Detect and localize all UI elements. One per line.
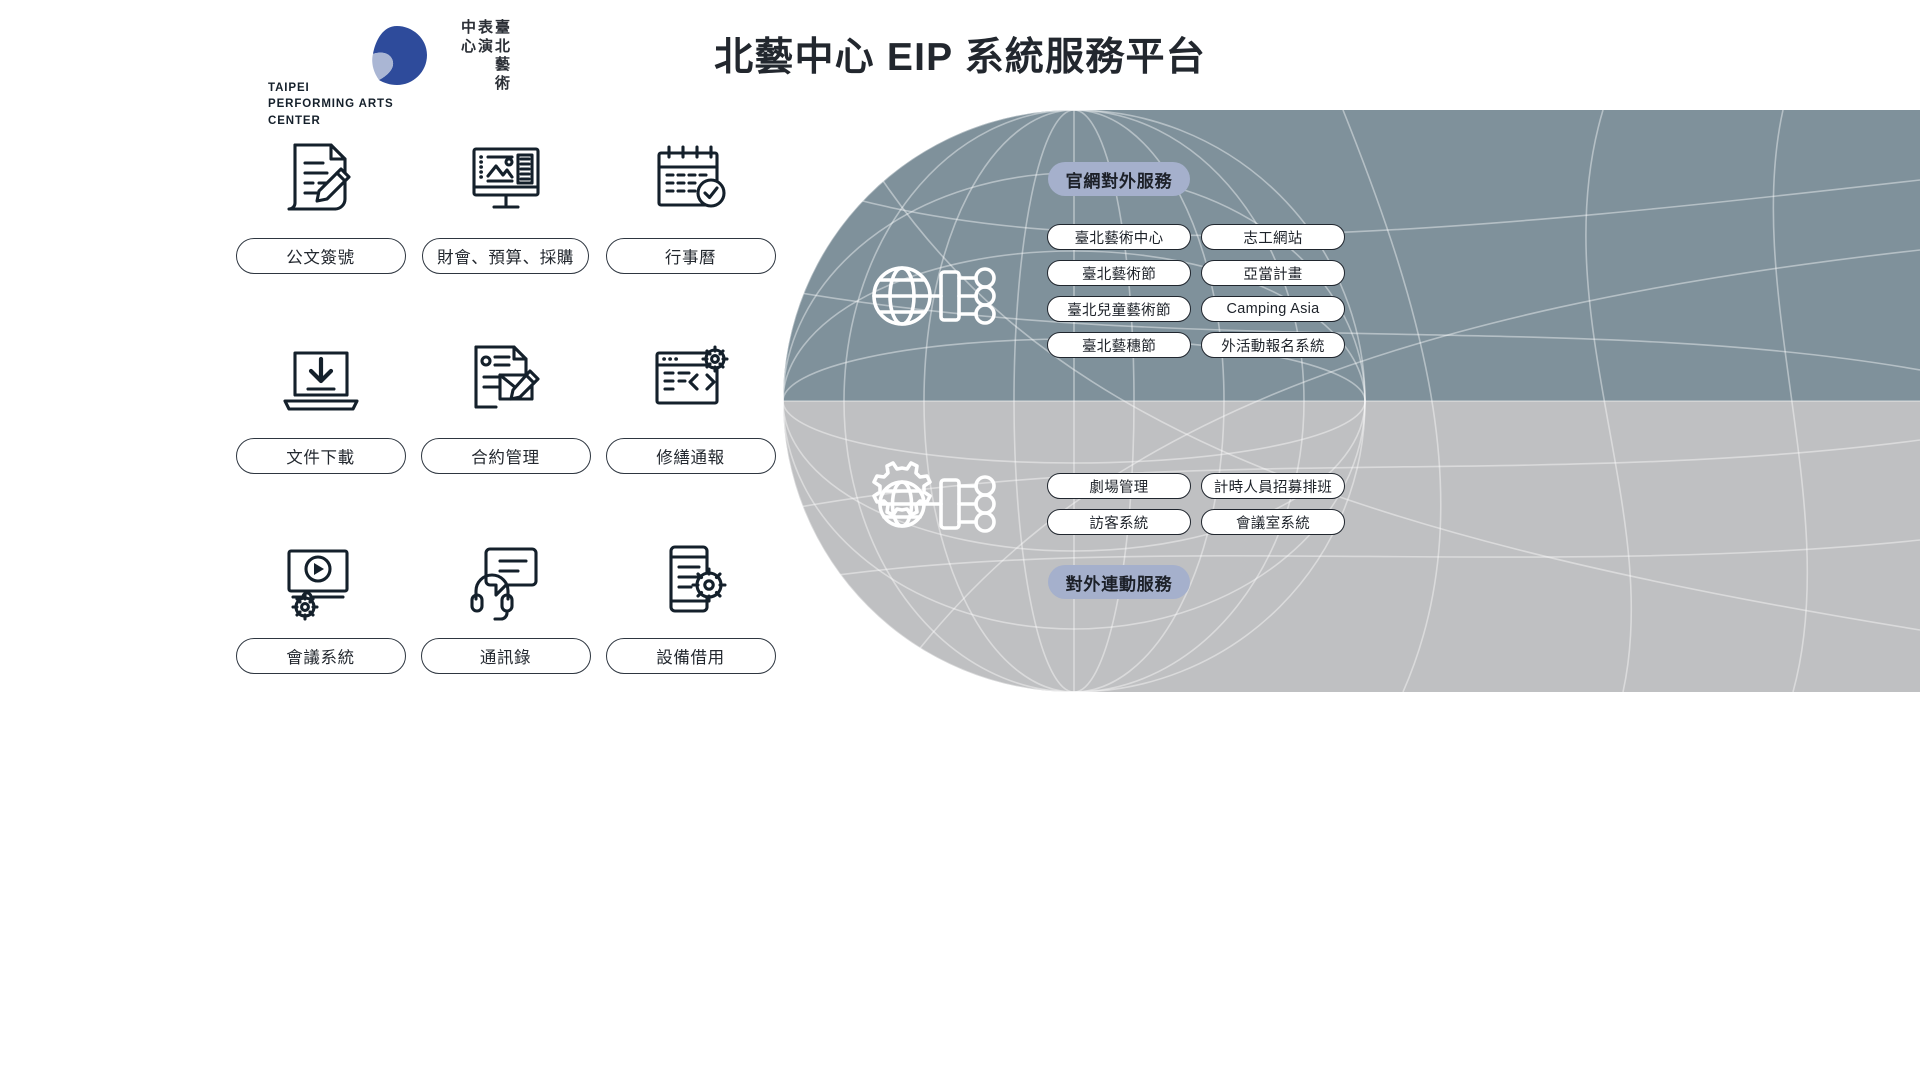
- service-tile-grid: 公文簽號 財會、預算、採購: [228, 130, 788, 730]
- tpac-logo-chinese: 臺 北 藝 術 表 演 中 心: [440, 19, 510, 111]
- pill-external-event-registration[interactable]: 外活動報名系統: [1201, 332, 1345, 358]
- document-sign-icon: [273, 136, 369, 222]
- pill-meeting-room-system[interactable]: 會議室系統: [1201, 509, 1345, 535]
- tile-label[interactable]: 文件下載: [236, 438, 406, 474]
- tile-label[interactable]: 通訊錄: [421, 638, 591, 674]
- pill-volunteer-site[interactable]: 志工網站: [1201, 224, 1345, 250]
- tpac-logo-english: TAIPEI PERFORMING ARTS CENTER: [268, 80, 448, 129]
- pill-taipei-fringe-festival[interactable]: 臺北藝穗節: [1047, 332, 1191, 358]
- pill-taipei-childrens-arts-festival[interactable]: 臺北兒童藝術節: [1047, 296, 1191, 322]
- tile-finance-budget-procurement[interactable]: 財會、預算、採購: [413, 130, 598, 330]
- logo-col-2: 表 演: [478, 19, 493, 111]
- badge-public-web-services[interactable]: 官網對外服務: [1048, 162, 1190, 196]
- tile-label[interactable]: 公文簽號: [236, 238, 406, 274]
- contract-envelope-icon: [458, 336, 554, 422]
- tile-contacts[interactable]: 通訊錄: [413, 530, 598, 730]
- tile-label[interactable]: 財會、預算、採購: [422, 238, 589, 274]
- tile-meeting-system[interactable]: 會議系統: [228, 530, 413, 730]
- calendar-check-icon: [643, 136, 739, 222]
- public-web-service-pill-grid: 臺北藝術中心 志工網站 臺北藝術節 亞當計畫 臺北兒童藝術節 Camping A…: [1047, 224, 1345, 358]
- tile-document-download[interactable]: 文件下載: [228, 330, 413, 530]
- pill-camping-asia[interactable]: Camping Asia: [1201, 296, 1345, 322]
- globe-gear-network-icon: [869, 458, 1004, 550]
- logo-en-line1: TAIPEI: [268, 80, 448, 96]
- tile-label[interactable]: 設備借用: [606, 638, 776, 674]
- pill-taipei-performing-arts-center[interactable]: 臺北藝術中心: [1047, 224, 1191, 250]
- tile-calendar[interactable]: 行事曆: [598, 130, 783, 330]
- tile-label[interactable]: 修繕通報: [606, 438, 776, 474]
- tile-repair-report[interactable]: 修繕通報: [598, 330, 783, 530]
- page-header: 臺 北 藝 術 表 演 中 心 TAIPEI PERFORMING ARTS C…: [0, 0, 1920, 120]
- tile-contract-management[interactable]: 合約管理: [413, 330, 598, 530]
- logo-en-line2: PERFORMING ARTS CENTER: [268, 96, 448, 129]
- page-root: 臺 北 藝 術 表 演 中 心 TAIPEI PERFORMING ARTS C…: [0, 0, 1920, 1080]
- video-play-gear-icon: [273, 536, 369, 622]
- laptop-download-icon: [273, 336, 369, 422]
- pill-hourly-staff-recruitment-scheduling[interactable]: 計時人員招募排班: [1201, 473, 1345, 499]
- globe-network-icon: [869, 250, 1004, 342]
- headset-chat-icon: [458, 536, 554, 622]
- tile-equipment-loan[interactable]: 設備借用: [598, 530, 783, 730]
- phone-gear-icon: [643, 536, 739, 622]
- tile-label[interactable]: 會議系統: [236, 638, 406, 674]
- code-window-gear-icon: [643, 336, 739, 422]
- systems-panel: 官網對外服務 臺北藝術中心 志工網站 臺北藝術節 亞當計畫 臺北兒童藝術節 Ca…: [783, 110, 1920, 692]
- logo-col-1: 臺 北 藝 術: [495, 19, 510, 111]
- tpac-logo: 臺 北 藝 術 表 演 中 心 TAIPEI PERFORMING ARTS C…: [268, 14, 508, 109]
- pill-adam-project[interactable]: 亞當計畫: [1201, 260, 1345, 286]
- badge-external-linked-services[interactable]: 對外連動服務: [1048, 565, 1190, 599]
- pill-taipei-arts-festival[interactable]: 臺北藝術節: [1047, 260, 1191, 286]
- pill-visitor-system[interactable]: 訪客系統: [1047, 509, 1191, 535]
- tile-document-sign[interactable]: 公文簽號: [228, 130, 413, 330]
- pill-theater-management[interactable]: 劇場管理: [1047, 473, 1191, 499]
- logo-col-3: 中 心: [461, 19, 476, 111]
- monitor-chart-icon: [458, 136, 554, 222]
- tile-label[interactable]: 合約管理: [421, 438, 591, 474]
- tpac-logo-mark: [365, 24, 429, 88]
- external-linked-service-pill-grid: 劇場管理 計時人員招募排班 訪客系統 會議室系統: [1047, 473, 1345, 535]
- tile-label[interactable]: 行事曆: [606, 238, 776, 274]
- page-title: 北藝中心 EIP 系統服務平台: [600, 26, 1320, 82]
